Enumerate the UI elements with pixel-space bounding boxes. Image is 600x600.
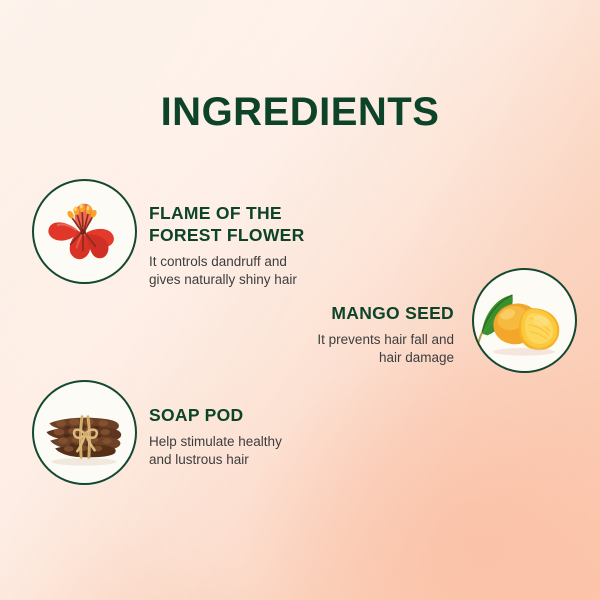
ingredient-name-flower: FLAME OF THEFOREST FLOWER xyxy=(149,203,379,247)
ingredient-name-flower-line2: FOREST FLOWER xyxy=(149,225,305,245)
ingredient-description-flower-line2: gives naturally shiny hair xyxy=(149,272,297,287)
soap-pod-icon xyxy=(34,382,135,483)
ingredient-description-flower-line1: It controls dandruff and xyxy=(149,254,287,269)
ingredient-image-circle-flower xyxy=(32,179,137,284)
ingredient-text-soap-pod: SOAP POD Help stimulate healthyand lustr… xyxy=(149,405,379,469)
ingredient-image-circle-soap-pod xyxy=(32,380,137,485)
flame-of-the-forest-flower-icon xyxy=(34,181,135,282)
page-title: INGREDIENTS xyxy=(0,92,600,132)
ingredients-poster: INGREDIENTS xyxy=(0,0,600,600)
ingredient-name-flower-line1: FLAME OF THE xyxy=(149,203,282,223)
ingredient-text-mango: MANGO SEED It prevents hair fall andhair… xyxy=(222,303,454,367)
ingredient-image-circle-mango xyxy=(472,268,577,373)
ingredient-description-flower: It controls dandruff andgives naturally … xyxy=(149,253,379,289)
mango-seed-icon xyxy=(474,270,575,371)
ingredient-name-mango: MANGO SEED xyxy=(222,303,454,325)
ingredient-description-soap-pod-line2: and lustrous hair xyxy=(149,452,249,467)
ingredient-text-flower: FLAME OF THEFOREST FLOWER It controls da… xyxy=(149,203,379,289)
ingredient-description-soap-pod-line1: Help stimulate healthy xyxy=(149,434,282,449)
ingredient-description-mango-line1: It prevents hair fall and xyxy=(317,332,454,347)
ingredient-description-mango: It prevents hair fall andhair damage xyxy=(222,331,454,367)
ingredient-name-soap-pod: SOAP POD xyxy=(149,405,379,427)
ingredient-description-mango-line2: hair damage xyxy=(379,350,454,365)
ingredient-description-soap-pod: Help stimulate healthyand lustrous hair xyxy=(149,433,379,469)
